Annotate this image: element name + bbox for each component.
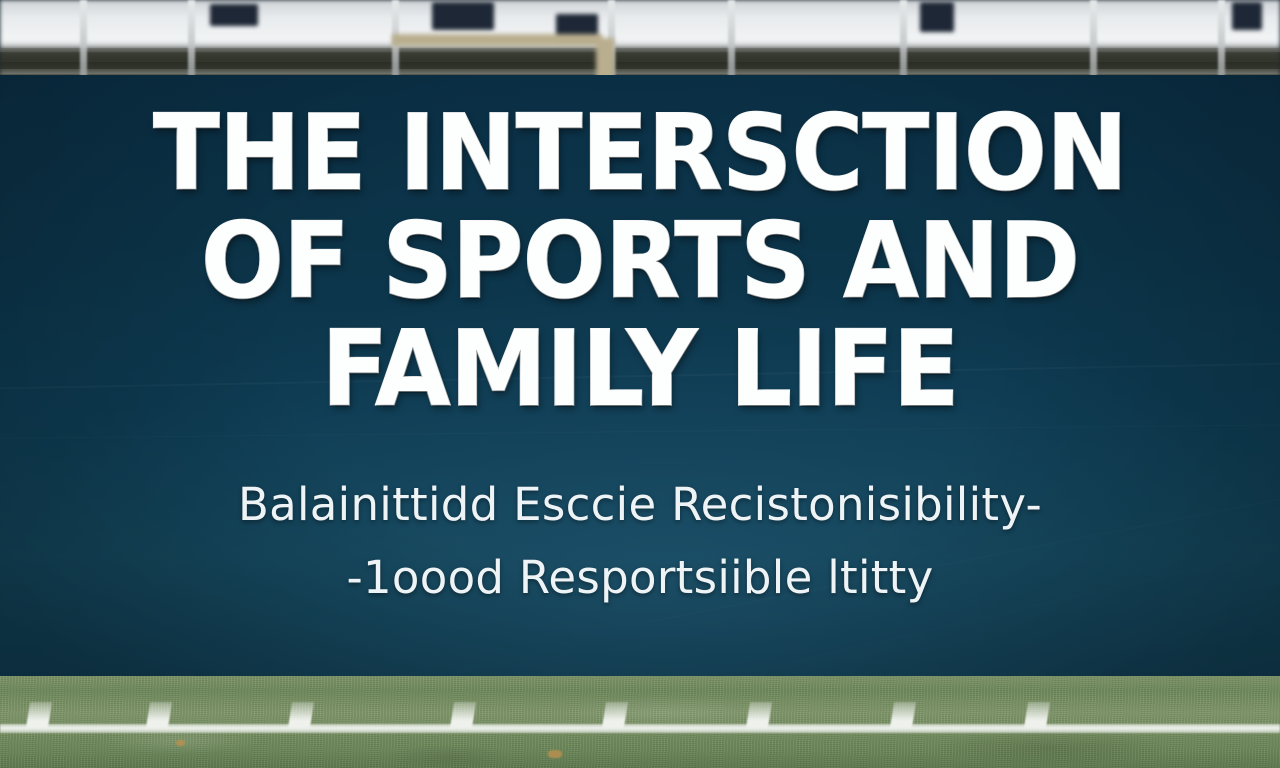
hash-mark [1024,702,1050,728]
stadium-post [188,0,195,86]
stadium-post [1090,0,1097,86]
hash-mark [26,702,52,728]
subtitle-line-1: Balainittidd Esccie Recistonisibility- [238,469,1042,542]
title-line-3: FAMILY LIFE [153,319,1127,421]
turf-texture [0,676,1280,768]
subtitle: Balainittidd Esccie Recistonisibility- -… [238,469,1042,615]
hash-mark [146,702,172,728]
field-debris [176,740,185,746]
stadium-post [900,0,907,86]
page-title: THE INTERSCTION OF SPORTS AND FAMILY LIF… [153,103,1127,421]
hash-mark [288,702,314,728]
stadium-post [80,0,87,86]
football-field-turf [0,676,1280,768]
stadium-fixture [432,2,494,30]
stadium-fixture [1232,2,1262,30]
hash-mark [602,702,628,728]
stadium-post [728,0,735,86]
title-content: THE INTERSCTION OF SPORTS AND FAMILY LIF… [0,75,1280,676]
title-line-2: OF SPORTS AND [153,211,1127,313]
stadium-beam [392,34,602,46]
title-line-1: THE INTERSCTION [153,103,1127,205]
yard-line [0,724,1280,733]
stadium-fixture [210,4,258,26]
subtitle-line-2: -1oood Resportsiible ltitty [238,542,1042,615]
stadium-post [1218,0,1225,86]
hash-mark [890,702,916,728]
field-debris [548,750,562,758]
title-card: THE INTERSCTION OF SPORTS AND FAMILY LIF… [0,0,1280,768]
stadium-fixture [920,2,954,32]
hash-mark [450,702,476,728]
hash-mark [746,702,772,728]
title-panel: THE INTERSCTION OF SPORTS AND FAMILY LIF… [0,75,1280,676]
